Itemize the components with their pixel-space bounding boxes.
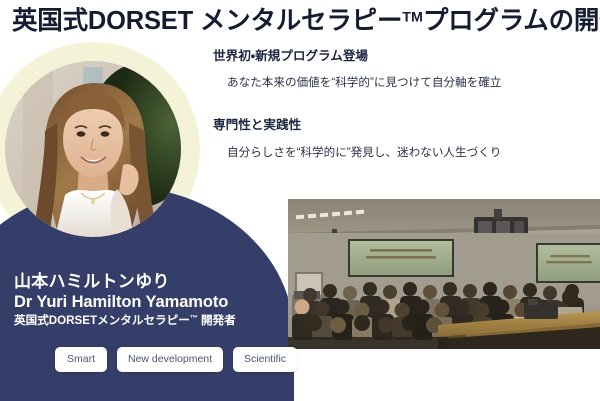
presenter-name-en: Dr Yuri Hamilton Yamamoto	[14, 292, 276, 312]
copy-column: 世界初・新規プログラム登場 あなた本来の価値を“科学的”に見つけて自分軸を確立 …	[213, 48, 593, 186]
avatar	[5, 61, 181, 237]
copy-body-1: あなた本来の価値を“科学的”に見つけて自分軸を確立	[227, 75, 537, 92]
presenter-identity: 山本ハミルトンゆり Dr Yuri Hamilton Yamamoto 英国式D…	[14, 271, 276, 329]
credential-main: 英国式DORSETメンタルセラピー	[14, 314, 190, 327]
copy-block-1: 世界初・新規プログラム登場 あなた本来の価値を“科学的”に見つけて自分軸を確立	[213, 48, 593, 92]
slide-canvas: 英国式DORSET メンタルセラピーTMプログラムの開発	[0, 0, 600, 401]
copy-heading-2: 専門性と実践性	[213, 117, 593, 133]
tag-chip-smart[interactable]: Smart	[55, 347, 107, 372]
tag-chip-new-development[interactable]: New development	[117, 347, 223, 372]
page-title-main: 英国式DORSET メンタルセラピー	[12, 7, 402, 35]
presenter-name-ja: 山本ハミルトンゆり	[14, 271, 276, 292]
credential-tail: 開発者	[198, 314, 236, 327]
portrait-photo-icon	[5, 61, 181, 237]
copy-body-2: 自分らしさを“科学的に”発見し、迷わない人生づくり	[227, 145, 537, 162]
copy-block-2: 専門性と実践性 自分らしさを“科学的に”発見し、迷わない人生づくり	[213, 117, 593, 161]
credential-trademark-icon: ™	[190, 314, 198, 323]
lecture-hall-photo-icon	[288, 199, 600, 349]
trademark-superscript: TM	[402, 10, 423, 26]
presenter-credential: 英国式DORSETメンタルセラピー™ 開発者	[14, 313, 276, 329]
tag-chip-scientific[interactable]: Scientific	[233, 347, 297, 372]
copy-heading-1: 世界初・新規プログラム登場	[213, 48, 593, 64]
tag-list: Smart New development Scientific	[55, 347, 297, 372]
page-title: 英国式DORSET メンタルセラピーTMプログラムの開発	[12, 7, 592, 36]
lecture-hall-photo	[288, 199, 600, 349]
page-title-tail: プログラムの開発	[423, 7, 600, 35]
